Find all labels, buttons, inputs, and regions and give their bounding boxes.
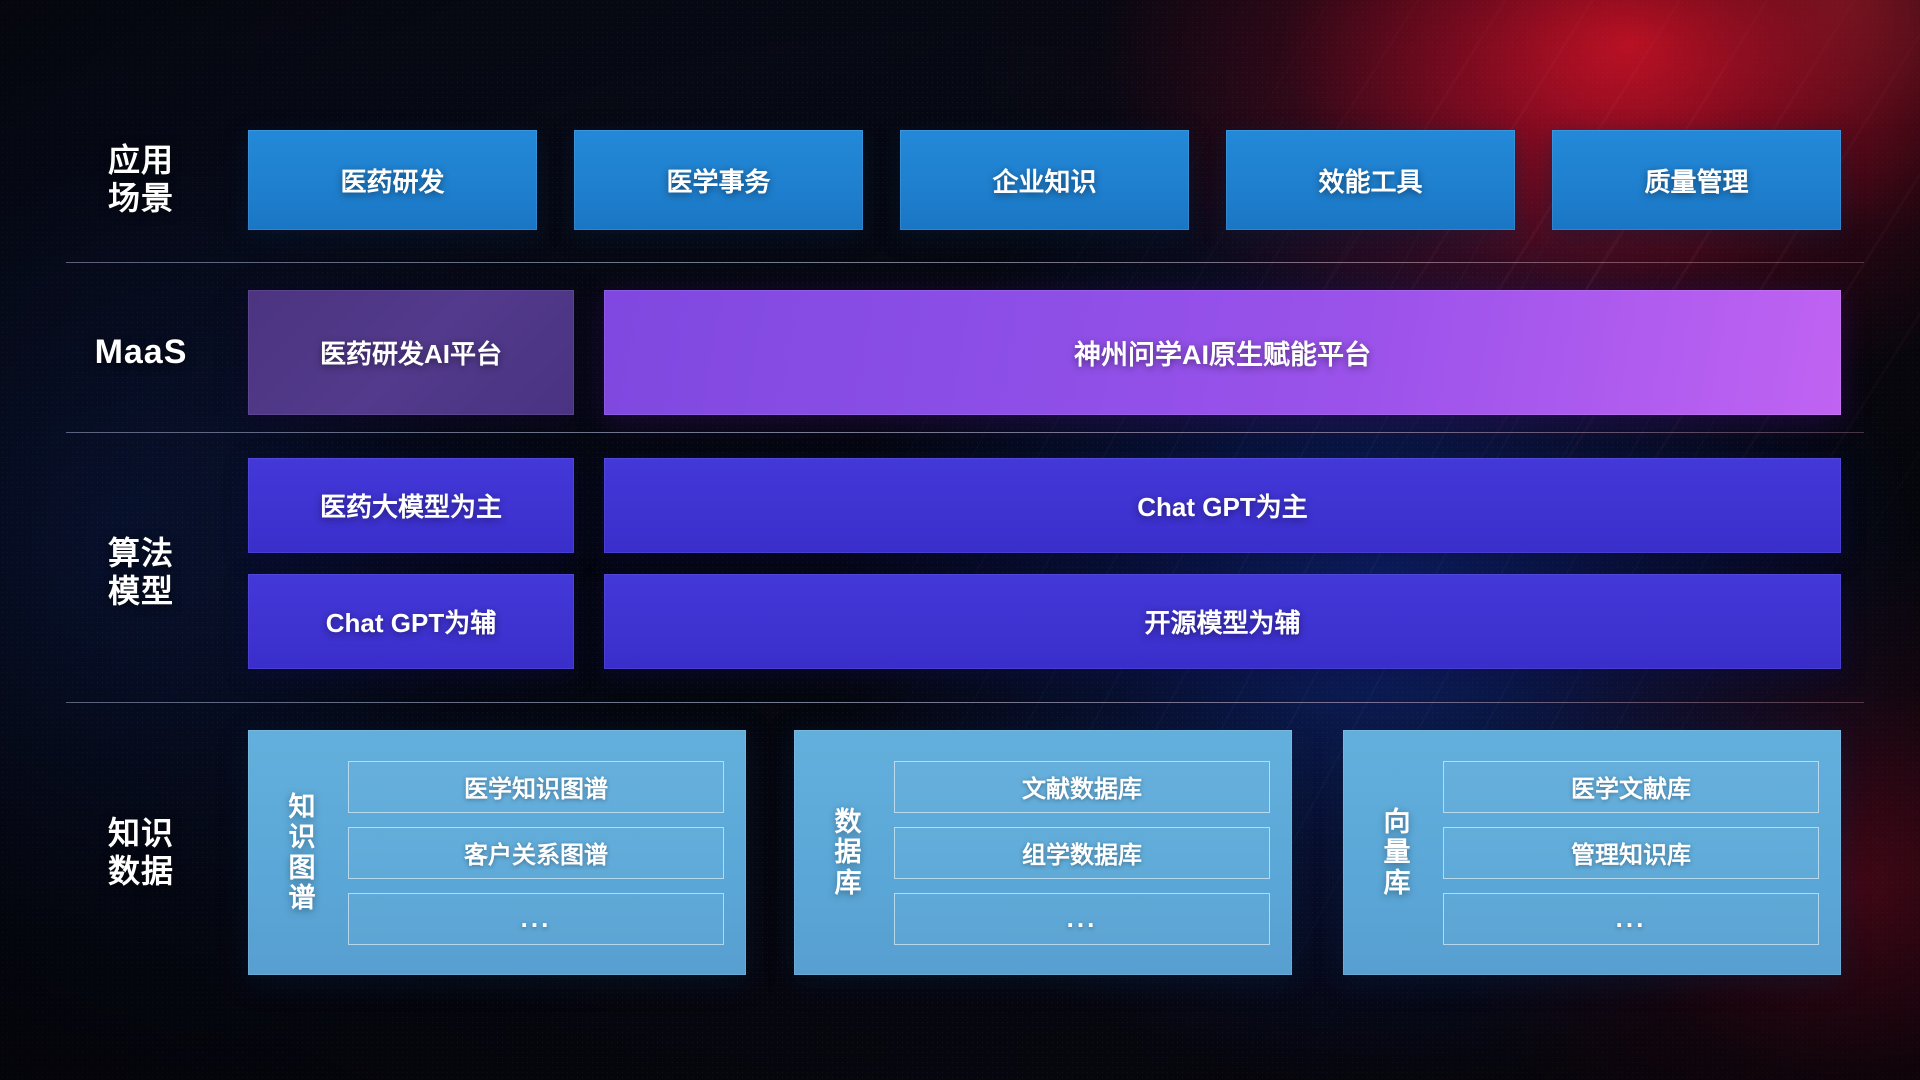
row-label-line: 模型 <box>108 573 174 611</box>
knowledge-item-more[interactable]: ... <box>348 893 724 945</box>
row-label-line: 应用 <box>108 142 174 180</box>
divider-after-application-scenarios <box>66 262 1864 263</box>
knowledge-item[interactable]: 客户关系图谱 <box>348 827 724 879</box>
knowledge-item[interactable]: 文献数据库 <box>894 761 1270 813</box>
knowledge-card-item-list: 文献数据库 组学数据库 ... <box>884 743 1292 963</box>
knowledge-card-vector-store[interactable]: 向 量 库 医学文献库 管理知识库 ... <box>1343 730 1841 975</box>
knowledge-item[interactable]: 管理知识库 <box>1443 827 1819 879</box>
row-algorithm-models: 算法 模型 医药大模型为主 Chat GPT为主 Chat GPT为辅 开源模型… <box>0 458 1920 688</box>
row-application-scenarios: 应用 场景 医药研发 医学事务 企业知识 效能工具 质量管理 <box>0 130 1920 230</box>
knowledge-card-item-list: 医学知识图谱 客户关系图谱 ... <box>338 743 746 963</box>
row-label-line: 数据 <box>108 853 174 891</box>
app-box-label: 质量管理 <box>1644 162 1748 199</box>
algo-box-opensource-secondary[interactable]: 开源模型为辅 <box>604 574 1841 669</box>
slide-canvas: 应用 场景 医药研发 医学事务 企业知识 效能工具 质量管理 MaaS <box>0 0 1920 1080</box>
title-char: 图 <box>289 853 316 883</box>
knowledge-card-item-list: 医学文献库 管理知识库 ... <box>1433 743 1841 963</box>
app-box-label: 医药研发 <box>340 162 444 199</box>
knowledge-card-title-vector-store: 向 量 库 <box>1361 807 1433 898</box>
divider-after-algorithm-models <box>66 702 1864 703</box>
maas-box-pharma-ai-platform[interactable]: 医药研发AI平台 <box>248 290 574 415</box>
knowledge-card-title-knowledge-graph: 知 识 图 谱 <box>266 792 338 913</box>
knowledge-item-more[interactable]: ... <box>1443 893 1819 945</box>
title-char: 谱 <box>289 883 316 913</box>
title-char: 据 <box>835 837 862 867</box>
title-char: 量 <box>1384 837 1411 867</box>
maas-box-label: 医药研发AI平台 <box>320 334 502 371</box>
knowledge-item[interactable]: 医学知识图谱 <box>348 761 724 813</box>
row-label-line: 场景 <box>108 180 174 218</box>
title-char: 识 <box>289 822 316 852</box>
app-box-quality-management[interactable]: 质量管理 <box>1552 130 1841 230</box>
maas-box-shenzhou-wenxue-platform[interactable]: 神州问学AI原生赋能平台 <box>604 290 1841 415</box>
title-char: 库 <box>1384 868 1411 898</box>
title-char: 向 <box>1384 807 1411 837</box>
app-box-enterprise-knowledge[interactable]: 企业知识 <box>900 130 1189 230</box>
title-char: 数 <box>835 807 862 837</box>
title-char: 库 <box>835 868 862 898</box>
knowledge-item-more[interactable]: ... <box>894 893 1270 945</box>
maas-box-label: 神州问学AI原生赋能平台 <box>1074 333 1371 372</box>
algo-box-chatgpt-primary[interactable]: Chat GPT为主 <box>604 458 1841 553</box>
algo-box-label: 医药大模型为主 <box>320 487 502 524</box>
row-knowledge-data: 知识 数据 知 识 图 谱 医学知识图谱 客户关系图谱 ... <box>0 730 1920 975</box>
app-box-medicine-rd[interactable]: 医药研发 <box>248 130 537 230</box>
algo-box-label: 开源模型为辅 <box>1144 603 1300 640</box>
knowledge-card-title-database: 数 据 库 <box>812 807 884 898</box>
algo-box-chatgpt-secondary[interactable]: Chat GPT为辅 <box>248 574 574 669</box>
app-box-efficiency-tools[interactable]: 效能工具 <box>1226 130 1515 230</box>
row-label-application-scenarios: 应用 场景 <box>66 130 216 230</box>
row-label-line: 知识 <box>108 815 174 853</box>
app-box-label: 效能工具 <box>1318 162 1422 199</box>
row-label-algorithm-models: 算法 模型 <box>66 458 216 688</box>
algo-box-pharma-llm-primary[interactable]: 医药大模型为主 <box>248 458 574 553</box>
divider-after-maas <box>66 432 1864 433</box>
row-label-knowledge-data: 知识 数据 <box>66 730 216 975</box>
app-box-medical-affairs[interactable]: 医学事务 <box>574 130 863 230</box>
app-box-label: 企业知识 <box>992 162 1096 199</box>
row-label-line: 算法 <box>108 535 174 573</box>
title-char: 知 <box>289 792 316 822</box>
knowledge-card-database[interactable]: 数 据 库 文献数据库 组学数据库 ... <box>794 730 1292 975</box>
knowledge-card-knowledge-graph[interactable]: 知 识 图 谱 医学知识图谱 客户关系图谱 ... <box>248 730 746 975</box>
row-label-maas: MaaS <box>66 290 216 415</box>
algo-box-label: Chat GPT为主 <box>1137 487 1307 524</box>
algo-box-label: Chat GPT为辅 <box>326 603 496 640</box>
knowledge-item[interactable]: 医学文献库 <box>1443 761 1819 813</box>
app-box-label: 医学事务 <box>666 162 770 199</box>
row-maas: MaaS 医药研发AI平台 神州问学AI原生赋能平台 <box>0 290 1920 415</box>
row-label-line: MaaS <box>95 332 188 372</box>
knowledge-item[interactable]: 组学数据库 <box>894 827 1270 879</box>
